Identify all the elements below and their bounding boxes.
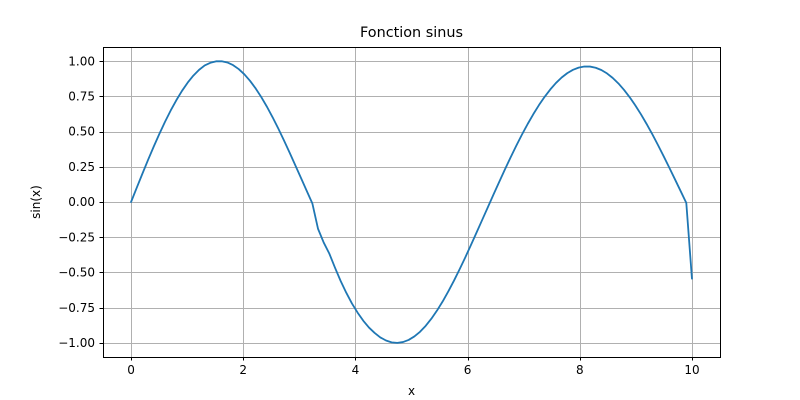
x-tick-label: 0 [127, 363, 135, 377]
x-axis-label: x [408, 384, 415, 398]
y-tick-label: −1.00 [58, 336, 95, 350]
plot-canvas: 0246810 −1.00−0.75−0.50−0.250.000.250.50… [0, 0, 800, 400]
y-tick-label: 0.50 [68, 125, 95, 139]
x-tick-label: 2 [239, 363, 247, 377]
y-tick-label: −0.25 [58, 230, 95, 244]
x-tick-label: 8 [576, 363, 584, 377]
x-tick-label: 4 [352, 363, 360, 377]
x-tick-label: 6 [464, 363, 472, 377]
y-tick-label: −0.75 [58, 301, 95, 315]
matplotlib-figure: 0246810 −1.00−0.75−0.50−0.250.000.250.50… [0, 0, 800, 400]
x-tick-label: 10 [684, 363, 699, 377]
y-tick-label: −0.50 [58, 266, 95, 280]
y-axis-label: sin(x) [29, 185, 43, 219]
y-tick-label: 0.25 [68, 160, 95, 174]
y-tick-label: 0.75 [68, 90, 95, 104]
y-tick-label: 0.00 [68, 195, 95, 209]
y-tick-label: 1.00 [68, 54, 95, 68]
chart-title: Fonction sinus [360, 25, 463, 41]
